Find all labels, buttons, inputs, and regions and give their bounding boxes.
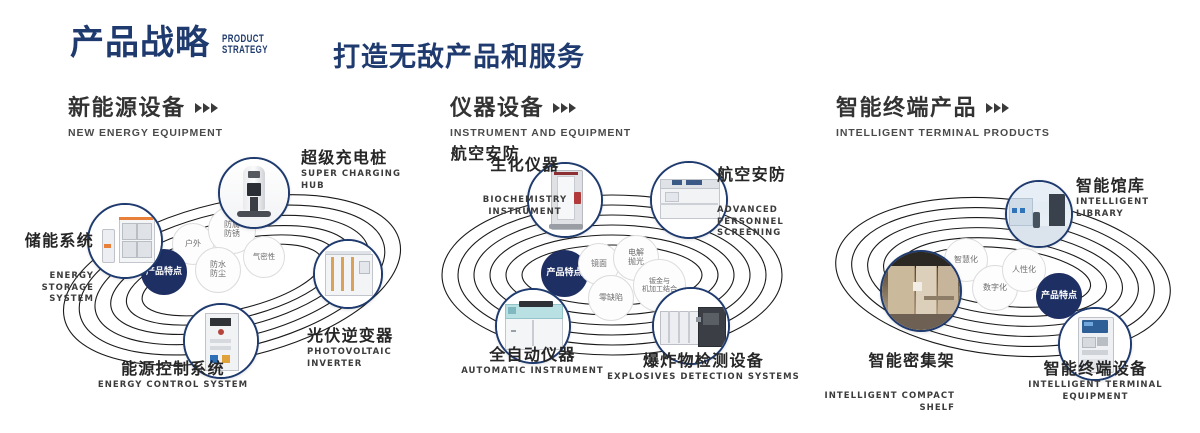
node-label-energy-control-system: 能源控制系统 ENERGY CONTROL SYSTEM	[83, 360, 263, 392]
product-node-compact-shelving[interactable]	[880, 250, 962, 332]
node-label-cn: 生化仪器	[455, 156, 595, 174]
photovoltaic-inverter-image	[315, 241, 381, 307]
node-label-en: INTELLIGENT LIBRARY	[1076, 197, 1195, 220]
feature-bubble: 气密性	[243, 236, 285, 278]
section-title-intelligent-terminal: 智能终端产品 INTELLIGENT TERMINAL PRODUCTS	[836, 98, 1050, 139]
product-node-energy-storage-cabinet[interactable]	[87, 203, 163, 279]
page-subtitle: 打造无敌产品和服务	[333, 35, 585, 74]
feature-bubble-label: 零缺陷	[599, 294, 623, 303]
node-label-cn: 全自动仪器	[445, 346, 620, 364]
node-label-cn: 能源控制系统	[83, 360, 263, 378]
page-title-cn: 产品战略	[70, 26, 210, 60]
core-bubble-label: 产品特点	[1041, 291, 1077, 301]
node-label-biochemistry-instrument: 生化仪器 BIOCHEMISTRY INSTRUMENT	[455, 137, 595, 237]
node-label-en: INTELLIGENT TERMINAL EQUIPMENT	[998, 380, 1193, 403]
feature-bubble: 防水 防尘	[195, 247, 241, 293]
personnel-screening-scanner-image	[652, 163, 726, 237]
node-label-en: AUTOMATIC INSTRUMENT	[445, 366, 620, 377]
node-label-en: SUPER CHARGING HUB	[301, 169, 420, 192]
node-label-energy-storage-system: 储能系统 ENERGY STORAGE SYSTEM	[0, 213, 94, 325]
node-label-cn: 储能系统	[0, 232, 94, 250]
node-label-cn: 智能密集架	[800, 352, 955, 370]
node-label-en: ADVANCED PERSONNEL SCREENING	[717, 205, 837, 239]
energy-storage-cabinet-image	[89, 205, 161, 277]
product-node-ev-charging-pile[interactable]	[218, 157, 290, 229]
feature-bubble: 零缺陷	[588, 275, 634, 321]
node-label-cn: 智能馆库	[1076, 177, 1195, 195]
section-title-cn: 智能终端产品	[836, 98, 977, 120]
node-label-automatic-instrument: 全自动仪器 AUTOMATIC INSTRUMENT	[445, 346, 620, 378]
node-label-photovoltaic-inverter: 光伏逆变器 PHOTOVOLTAIC INVERTER	[307, 327, 420, 370]
core-bubble-label: 产品特点	[546, 268, 582, 278]
feature-bubble-label: 人性化	[1012, 266, 1036, 275]
node-label-intelligent-library: 智能馆库 INTELLIGENT LIBRARY	[1076, 177, 1195, 220]
cluster-intelligent-terminal: 智慧化 数字化 人性化 产品特点	[820, 155, 1195, 405]
node-label-cn: 爆炸物检测设备	[601, 352, 806, 370]
node-label-en: PHOTOVOLTAIC INVERTER	[307, 347, 420, 370]
feature-bubble-label: 镜面	[591, 260, 607, 269]
page-title-en-line1: PRODUCT	[222, 34, 308, 46]
cluster-instrument: 产品特点 镜面 电解 抛光 零缺陷 钣金与 机加工结合	[425, 155, 800, 405]
node-label-advanced-personnel-screening: 航空安防 ADVANCED PERSONNEL SCREENING	[717, 147, 837, 259]
section-title-instrument: 仪器设备 INSTRUMENT AND EQUIPMENT	[450, 98, 631, 139]
section-title-new-energy: 新能源设备 NEW ENERGY EQUIPMENT	[68, 98, 223, 139]
node-label-cn: 航空安防	[717, 166, 837, 184]
smart-library-room-image	[1007, 182, 1071, 246]
compact-shelving-image	[882, 252, 960, 330]
page-title-en-line2: STRATEGY	[222, 45, 308, 57]
ev-charging-pile-image	[220, 159, 288, 227]
triple-chevron-right-icon	[553, 103, 576, 113]
node-label-en: ENERGY STORAGE SYSTEM	[0, 271, 94, 305]
feature-bubble-label: 数字化	[983, 284, 1007, 293]
node-label-cn: 光伏逆变器	[307, 327, 420, 345]
feature-bubble-label: 防水 防尘	[210, 261, 226, 279]
page-title-en: PRODUCT STRATEGY	[222, 34, 308, 60]
node-label-en: INTELLIGENT COMPACT SHELF	[800, 391, 955, 414]
node-label-intelligent-terminal-equipment: 智能终端设备 INTELLIGENT TERMINAL EQUIPMENT	[998, 360, 1193, 403]
section-title-en: INTELLIGENT TERMINAL PRODUCTS	[836, 127, 1050, 139]
product-node-photovoltaic-inverter[interactable]	[313, 239, 383, 309]
node-label-en: BIOCHEMISTRY INSTRUMENT	[455, 195, 595, 218]
poster-canvas: 产品战略 PRODUCT STRATEGY 打造无敌产品和服务 新能源设备 NE…	[0, 0, 1200, 422]
section-title-cn: 仪器设备	[450, 98, 544, 120]
section-title-cn: 新能源设备	[68, 98, 186, 120]
node-label-cn: 超级充电桩	[301, 149, 420, 167]
node-label-en: EXPLOSIVES DETECTION SYSTEMS	[601, 372, 806, 383]
node-label-cn: 智能终端设备	[998, 360, 1193, 378]
node-label-en: ENERGY CONTROL SYSTEM	[83, 380, 263, 391]
node-label-super-charging-hub: 超级充电桩 SUPER CHARGING HUB	[301, 149, 420, 192]
page-title: 产品战略 PRODUCT STRATEGY	[70, 26, 342, 60]
feature-bubble-label: 户外	[185, 240, 201, 249]
cluster-new-energy: 户外 防腐 防锈 防水 防尘 气密性 产品特点	[45, 155, 420, 405]
triple-chevron-right-icon	[195, 103, 218, 113]
section-title-en: NEW ENERGY EQUIPMENT	[68, 127, 223, 139]
node-label-intelligent-compact-shelf: 智能密集架 INTELLIGENT COMPACT SHELF	[800, 333, 955, 433]
triple-chevron-right-icon	[986, 103, 1009, 113]
feature-bubble-label: 气密性	[253, 253, 276, 261]
product-node-smart-library-room[interactable]	[1005, 180, 1073, 248]
node-label-explosives-detection-systems: 爆炸物检测设备 EXPLOSIVES DETECTION SYSTEMS	[601, 352, 806, 384]
